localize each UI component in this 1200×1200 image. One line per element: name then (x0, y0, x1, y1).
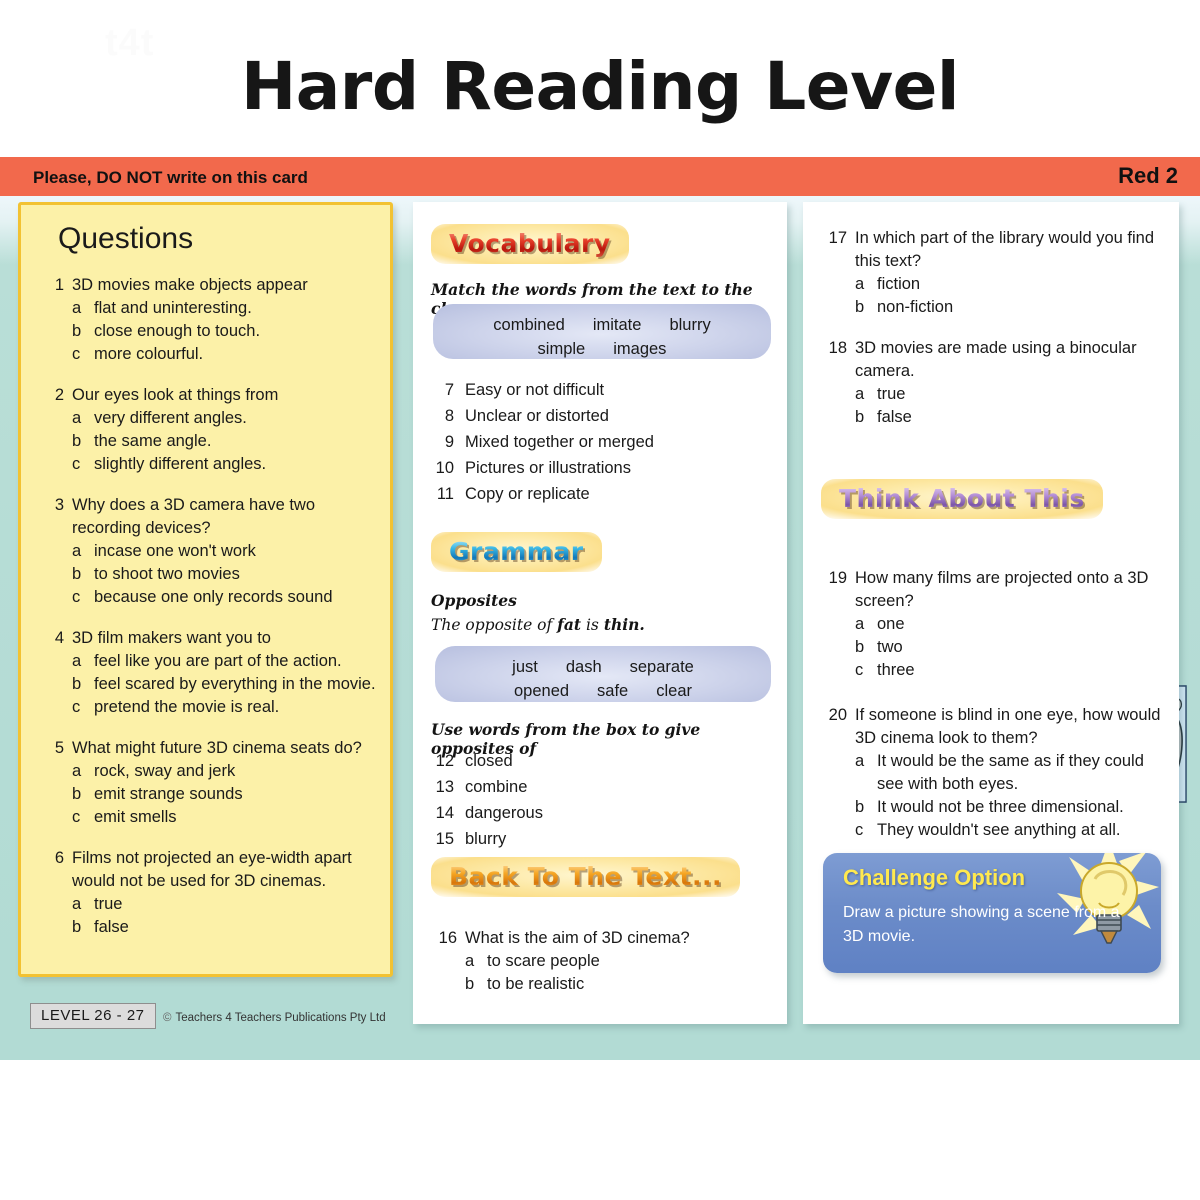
option-letter: b (855, 796, 868, 819)
question-text: Why does a 3D camera have two recording … (72, 494, 383, 540)
question-spacer (38, 366, 383, 384)
question-text: Films not projected an eye-width apart w… (72, 847, 383, 893)
word-chip[interactable]: safe (597, 682, 628, 700)
word-chip[interactable]: imitate (593, 316, 642, 334)
option-text: close enough to touch. (94, 320, 260, 343)
item-number: 9 (429, 429, 454, 455)
activities-panel: Vocabulary Match the words from the text… (413, 202, 787, 1024)
option-text: one (877, 613, 905, 636)
word-chip[interactable]: opened (514, 682, 569, 700)
question-text: What might future 3D cinema seats do? (72, 737, 362, 760)
question-item: 17In which part of the library would you… (821, 227, 1171, 273)
question-option[interactable]: ato scare people (465, 950, 771, 973)
right-questions-list-bottom: 19How many films are projected onto a 3D… (821, 567, 1171, 842)
challenge-body: Draw a picture showing a scene from a 3D… (843, 901, 1131, 949)
question-option[interactable]: afiction (855, 273, 1171, 296)
word-chip[interactable]: images (613, 340, 666, 358)
item-number: 10 (429, 455, 454, 481)
option-text: feel scared by everything in the movie. (94, 673, 376, 696)
option-letter: c (72, 806, 85, 829)
item-number: 7 (429, 377, 454, 403)
question-number: 5 (38, 737, 64, 760)
option-text: true (877, 383, 905, 406)
option-text: to be realistic (487, 973, 584, 996)
question-option[interactable]: aflat and uninteresting. (72, 297, 383, 320)
back-to-text-heading: Back To The Text... (431, 857, 740, 897)
grammar-wordbox-row-2: openedsafeclear (435, 679, 771, 703)
title-bar: t4t Hard Reading Level (0, 0, 1200, 157)
question-item: 5What might future 3D cinema seats do? (38, 737, 383, 760)
question-item: 6Films not projected an eye-width apart … (38, 847, 383, 893)
option-letter: a (855, 383, 868, 406)
question-text: If someone is blind in one eye, how woul… (855, 704, 1171, 750)
back-to-text-questions: 16What is the aim of 3D cinema?ato scare… (431, 927, 771, 996)
copyright-notice: ©Teachers 4 Teachers Publications Pty Lt… (163, 1012, 386, 1024)
option-text: false (877, 406, 912, 429)
challenge-title: Challenge Option (843, 865, 1025, 891)
question-spacer (38, 719, 383, 737)
option-text: fiction (877, 273, 920, 296)
option-text: very different angles. (94, 407, 247, 430)
item-text: Unclear or distorted (465, 403, 609, 429)
word-chip[interactable]: clear (656, 682, 692, 700)
option-letter: c (72, 586, 85, 609)
questions-panel: Questions 13D movies make objects appear… (18, 202, 393, 1040)
option-text: flat and uninteresting. (94, 297, 252, 320)
option-text: false (94, 916, 129, 939)
option-text: pretend the movie is real. (94, 696, 279, 719)
item-text: combine (465, 774, 527, 800)
grammar-item-list: 12closed13combine14dangerous15blurry (429, 748, 543, 852)
numbered-item[interactable]: 11Copy or replicate (429, 481, 654, 507)
question-option[interactable]: bthe same angle. (72, 430, 383, 453)
question-number: 1 (38, 274, 64, 297)
question-spacer (38, 609, 383, 627)
option-text: incase one won't work (94, 540, 256, 563)
question-option[interactable]: cmore colourful. (72, 343, 383, 366)
think-about-this-heading: Think About This (821, 479, 1103, 519)
option-letter: a (72, 760, 85, 783)
question-item: 13D movies make objects appear (38, 274, 383, 297)
numbered-item[interactable]: 13combine (429, 774, 543, 800)
question-option[interactable]: cthree (855, 659, 1171, 682)
question-number: 20 (821, 704, 847, 750)
question-text: Our eyes look at things from (72, 384, 278, 407)
option-text: They wouldn't see anything at all. (877, 819, 1120, 842)
grammar-heading: Grammar (431, 532, 602, 572)
item-text: Copy or replicate (465, 481, 590, 507)
question-number: 18 (821, 337, 847, 383)
grammar-example-word1: fat (557, 615, 581, 634)
level-range-badge: LEVEL 26 - 27 (30, 1003, 156, 1029)
option-letter: a (72, 540, 85, 563)
item-number: 8 (429, 403, 454, 429)
question-option[interactable]: bclose enough to touch. (72, 320, 383, 343)
option-text: two (877, 636, 903, 659)
question-option[interactable]: atrue (72, 893, 383, 916)
option-letter: c (72, 343, 85, 366)
option-text: because one only records sound (94, 586, 333, 609)
vocabulary-wordbox: combinedimitateblurry simpleimages (433, 304, 771, 359)
question-text: In which part of the library would you f… (855, 227, 1171, 273)
item-number: 12 (429, 748, 454, 774)
notice-text: Please, DO NOT write on this card (33, 168, 308, 188)
question-item: 43D film makers want you to (38, 627, 383, 650)
option-text: rock, sway and jerk (94, 760, 235, 783)
numbered-item[interactable]: 7Easy or not difficult (429, 377, 654, 403)
word-chip[interactable]: combined (493, 316, 565, 334)
option-letter: a (855, 273, 868, 296)
option-text: to shoot two movies (94, 563, 240, 586)
question-option[interactable]: cemit smells (72, 806, 383, 829)
question-option[interactable]: avery different angles. (72, 407, 383, 430)
option-letter: b (465, 973, 478, 996)
question-text: 3D movies are made using a binocular cam… (855, 337, 1171, 383)
question-text: How many films are projected onto a 3D s… (855, 567, 1171, 613)
option-letter: b (72, 430, 85, 453)
option-letter: a (465, 950, 478, 973)
question-option[interactable]: bfalse (72, 916, 383, 939)
vocabulary-wordbox-row-1: combinedimitateblurry (433, 313, 771, 337)
word-chip[interactable]: separate (630, 658, 694, 676)
option-text: to scare people (487, 950, 600, 973)
item-text: Mixed together or merged (465, 429, 654, 455)
question-text: What is the aim of 3D cinema? (465, 927, 690, 950)
question-number: 19 (821, 567, 847, 613)
option-text: true (94, 893, 122, 916)
item-number: 14 (429, 800, 454, 826)
question-option[interactable]: cpretend the movie is real. (72, 696, 383, 719)
question-option[interactable]: bto be realistic (465, 973, 771, 996)
question-spacer (38, 829, 383, 847)
question-option[interactable]: btwo (855, 636, 1171, 659)
question-number: 17 (821, 227, 847, 273)
question-option[interactable]: cslightly different angles. (72, 453, 383, 476)
grammar-example-prefix: The opposite of (431, 616, 557, 634)
think-panel: 17In which part of the library would you… (803, 202, 1179, 1024)
numbered-item[interactable]: 8Unclear or distorted (429, 403, 654, 429)
option-letter: b (72, 673, 85, 696)
option-letter: b (855, 636, 868, 659)
question-item: 16What is the aim of 3D cinema? (431, 927, 771, 950)
question-text: 3D movies make objects appear (72, 274, 308, 297)
option-letter: c (72, 696, 85, 719)
numbered-item[interactable]: 10Pictures or illustrations (429, 455, 654, 481)
question-option[interactable]: atrue (855, 383, 1171, 406)
option-letter: a (72, 407, 85, 430)
question-item: 19How many films are projected onto a 3D… (821, 567, 1171, 613)
question-option[interactable]: arock, sway and jerk (72, 760, 383, 783)
option-letter: c (855, 659, 868, 682)
question-spacer (821, 319, 1171, 337)
question-number: 3 (38, 494, 64, 540)
question-option[interactable]: bto shoot two movies (72, 563, 383, 586)
right-questions-list-top: 17In which part of the library would you… (821, 227, 1171, 429)
question-option[interactable]: bemit strange sounds (72, 783, 383, 806)
option-text: slightly different angles. (94, 453, 266, 476)
questions-list: 13D movies make objects appearaflat and … (38, 274, 383, 939)
option-text: It would not be three dimensional. (877, 796, 1124, 819)
challenge-option-box: Challenge Option Draw a picture showing … (823, 853, 1161, 973)
option-letter: b (855, 406, 868, 429)
word-chip[interactable]: blurry (669, 316, 710, 334)
question-option[interactable]: cbecause one only records sound (72, 586, 383, 609)
option-letter: a (855, 750, 868, 796)
grammar-wordbox-row-1: justdashseparate (435, 655, 771, 679)
numbered-item[interactable]: 14dangerous (429, 800, 543, 826)
question-item: 20If someone is blind in one eye, how wo… (821, 704, 1171, 750)
numbered-item[interactable]: 9Mixed together or merged (429, 429, 654, 455)
word-chip[interactable]: dash (566, 658, 602, 676)
numbered-item[interactable]: 12closed (429, 748, 543, 774)
option-letter: c (72, 453, 85, 476)
copyright-icon: © (163, 1012, 171, 1024)
item-number: 13 (429, 774, 454, 800)
option-text: the same angle. (94, 430, 211, 453)
question-spacer (821, 682, 1171, 704)
question-number: 6 (38, 847, 64, 893)
item-text: dangerous (465, 800, 543, 826)
item-number: 11 (429, 481, 454, 507)
grammar-wordbox: justdashseparate openedsafeclear (435, 646, 771, 702)
numbered-item[interactable]: 15blurry (429, 826, 543, 852)
vocabulary-wordbox-row-2: simpleimages (433, 337, 771, 361)
option-text: more colourful. (94, 343, 203, 366)
questions-heading: Questions (58, 222, 193, 256)
item-number: 15 (429, 826, 454, 852)
question-option[interactable]: bnon-fiction (855, 296, 1171, 319)
question-option[interactable]: cThey wouldn't see anything at all. (855, 819, 1171, 842)
option-letter: c (855, 819, 868, 842)
option-letter: b (72, 320, 85, 343)
grammar-example-mid: is (581, 616, 604, 634)
question-option[interactable]: bfeel scared by everything in the movie. (72, 673, 383, 696)
question-item: 3Why does a 3D camera have two recording… (38, 494, 383, 540)
item-text: blurry (465, 826, 506, 852)
question-spacer (38, 476, 383, 494)
question-number: 4 (38, 627, 64, 650)
question-option[interactable]: aincase one won't work (72, 540, 383, 563)
grammar-example: The opposite of fat is thin. (431, 615, 645, 634)
question-option[interactable]: afeel like you are part of the action. (72, 650, 383, 673)
word-chip[interactable]: just (512, 658, 538, 676)
item-text: Easy or not difficult (465, 377, 604, 403)
question-option[interactable]: bfalse (855, 406, 1171, 429)
question-option[interactable]: aIt would be the same as if they could s… (855, 750, 1171, 796)
question-option[interactable]: bIt would not be three dimensional. (855, 796, 1171, 819)
option-letter: b (72, 783, 85, 806)
option-text: emit smells (94, 806, 177, 829)
page-title: Hard Reading Level (0, 48, 1200, 125)
option-text: feel like you are part of the action. (94, 650, 342, 673)
option-text: non-fiction (877, 296, 953, 319)
option-letter: a (72, 297, 85, 320)
vocabulary-heading: Vocabulary (431, 224, 629, 264)
option-text: three (877, 659, 915, 682)
question-item: 183D movies are made using a binocular c… (821, 337, 1171, 383)
level-code-badge: Red 2 (1118, 163, 1178, 189)
question-number: 2 (38, 384, 64, 407)
option-text: emit strange sounds (94, 783, 243, 806)
option-letter: b (72, 916, 85, 939)
option-letter: b (855, 296, 868, 319)
item-text: closed (465, 748, 513, 774)
item-text: Pictures or illustrations (465, 455, 631, 481)
word-chip[interactable]: simple (538, 340, 586, 358)
question-item: 2Our eyes look at things from (38, 384, 383, 407)
option-text: It would be the same as if they could se… (877, 750, 1171, 796)
option-letter: a (72, 893, 85, 916)
question-number: 16 (431, 927, 457, 950)
option-letter: a (855, 613, 868, 636)
question-text: 3D film makers want you to (72, 627, 271, 650)
grammar-sub-label: Opposites (431, 591, 517, 610)
option-letter: a (72, 650, 85, 673)
option-letter: b (72, 563, 85, 586)
vocabulary-item-list: 7Easy or not difficult8Unclear or distor… (429, 377, 654, 507)
copyright-text: Teachers 4 Teachers Publications Pty Ltd (175, 1012, 385, 1024)
question-option[interactable]: aone (855, 613, 1171, 636)
grammar-example-word2: thin. (604, 615, 645, 634)
